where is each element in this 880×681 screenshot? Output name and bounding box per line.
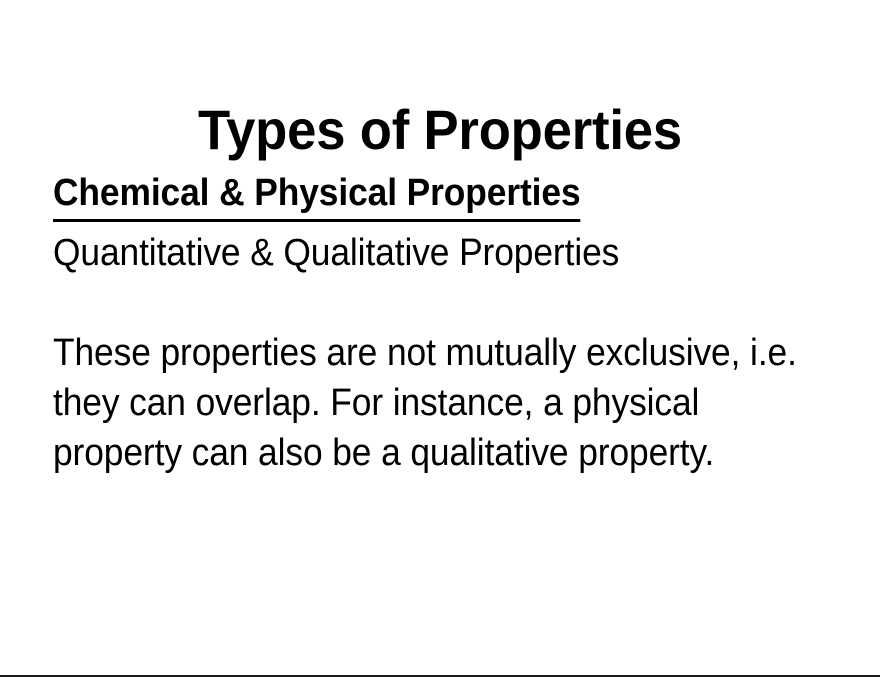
paragraph-spacer <box>53 278 828 328</box>
slide-body: Chemical & Physical Properties Quantitat… <box>53 168 828 478</box>
bottom-divider <box>0 675 880 677</box>
bullet-line-chemical-physical: Chemical & Physical Properties <box>53 168 828 228</box>
bullet-line-quantitative-qualitative: Quantitative & Qualitative Properties <box>53 228 774 278</box>
page-title: Types of Properties <box>26 100 853 160</box>
slide-canvas: Types of Properties Chemical & Physical … <box>0 0 880 681</box>
body-paragraph: These properties are not mutually exclus… <box>53 328 823 478</box>
bullet-label-chemical-physical: Chemical & Physical Properties <box>53 168 581 222</box>
